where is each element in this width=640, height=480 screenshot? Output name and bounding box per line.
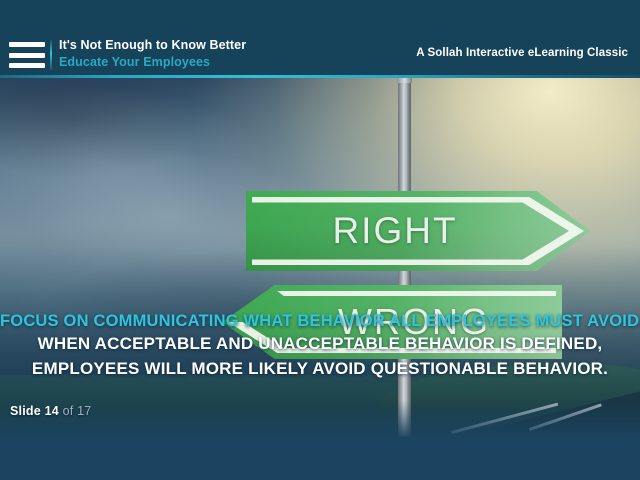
hamburger-menu-icon[interactable] [9, 42, 45, 68]
cloud-shape [0, 87, 270, 237]
slide-counter: Slide 14 of 17 [10, 404, 91, 418]
course-title: It's Not Enough to Know Better [59, 39, 246, 52]
course-subtitle: Educate Your Employees [59, 56, 246, 69]
footer-bar [0, 437, 640, 480]
cloud-shape [0, 207, 260, 337]
cloud-shape [0, 77, 200, 177]
slide-background-photo: RIGHT WRONG [0, 77, 640, 437]
slide-counter-separator: of [63, 404, 74, 418]
slide-counter-current: 14 [45, 404, 59, 418]
sign-right: RIGHT [246, 191, 590, 271]
slide-counter-total: 17 [77, 404, 91, 418]
sign-wrong: WRONG [222, 285, 562, 359]
slide-stage: RIGHT WRONG FOCUS ON COMMUNICATING WHAT … [0, 0, 640, 480]
brand-label: A Sollah Interactive eLearning Classic [416, 47, 628, 59]
header-accent-rule [0, 75, 640, 78]
slide-counter-label: Slide [10, 404, 41, 418]
hamburger-bar [9, 42, 45, 47]
hamburger-bar [9, 63, 45, 68]
hamburger-bar [9, 53, 45, 58]
header-divider [50, 40, 52, 70]
ground-landscape [0, 375, 640, 437]
header-bar: It's Not Enough to Know Better Educate Y… [0, 0, 640, 77]
header-title-block: It's Not Enough to Know Better Educate Y… [59, 39, 246, 69]
